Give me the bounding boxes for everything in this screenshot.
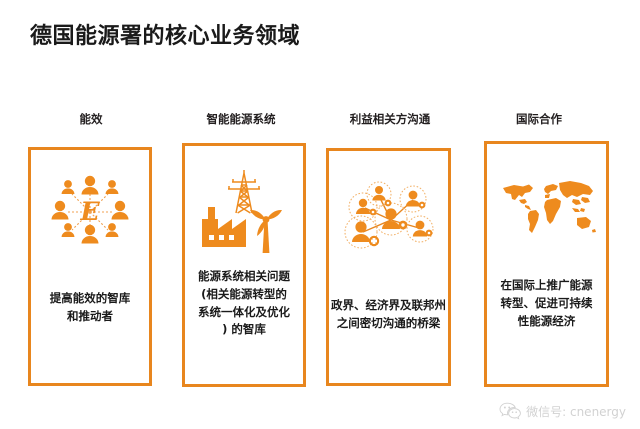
card-smart-energy-system[interactable]: 能源系统相关问题 (相关能源转型的 系统一体化及优化 ) 的智库 xyxy=(182,143,306,387)
svg-text:E: E xyxy=(79,197,100,226)
watermark: 微信号: cnenergy xyxy=(499,402,626,420)
column-header-international-cooperation: 国际合作 xyxy=(478,111,600,127)
card-international-cooperation[interactable]: 在国际上推广能源 转型、促进可持续 性能源经济 xyxy=(484,141,609,387)
watermark-text: 微信号: cnenergy xyxy=(526,403,626,420)
people-network-icon xyxy=(341,174,437,254)
icon-well xyxy=(185,170,303,254)
card-caption-smart-energy-system: 能源系统相关问题 (相关能源转型的 系统一体化及优化 ) 的智库 xyxy=(175,268,313,339)
card-energy-efficiency[interactable]: E 提高能效的智库 和推动者 xyxy=(28,147,152,386)
card-stakeholder-communication[interactable]: 政界、经济界及联邦州 之间密切沟通的桥梁 xyxy=(326,148,451,386)
card-caption-international-cooperation: 在国际上推广能源 转型、促进可持续 性能源经济 xyxy=(477,277,616,330)
card-caption-energy-efficiency: 提高能效的智库 和推动者 xyxy=(21,290,159,326)
icon-well: E xyxy=(31,172,149,252)
icon-well xyxy=(329,171,448,257)
column-header-stakeholder-communication: 利益相关方沟通 xyxy=(325,111,455,127)
people-around-e-icon: E xyxy=(50,175,130,249)
card-caption-stakeholder-communication: 政界、经济界及联邦州 之间密切沟通的桥梁 xyxy=(319,297,458,333)
wechat-icon xyxy=(499,402,521,420)
power-tower-factory-windturbine-icon xyxy=(198,169,290,255)
slide-canvas: 德国能源署的核心业务领域 能效 智能能源系统 利益相关方沟通 国际合作 xyxy=(0,0,640,429)
column-header-energy-efficiency: 能效 xyxy=(49,111,133,127)
icon-well xyxy=(487,166,606,250)
page-title: 德国能源署的核心业务领域 xyxy=(30,18,300,50)
world-map-icon xyxy=(497,177,597,239)
column-header-smart-energy-system: 智能能源系统 xyxy=(182,111,300,127)
